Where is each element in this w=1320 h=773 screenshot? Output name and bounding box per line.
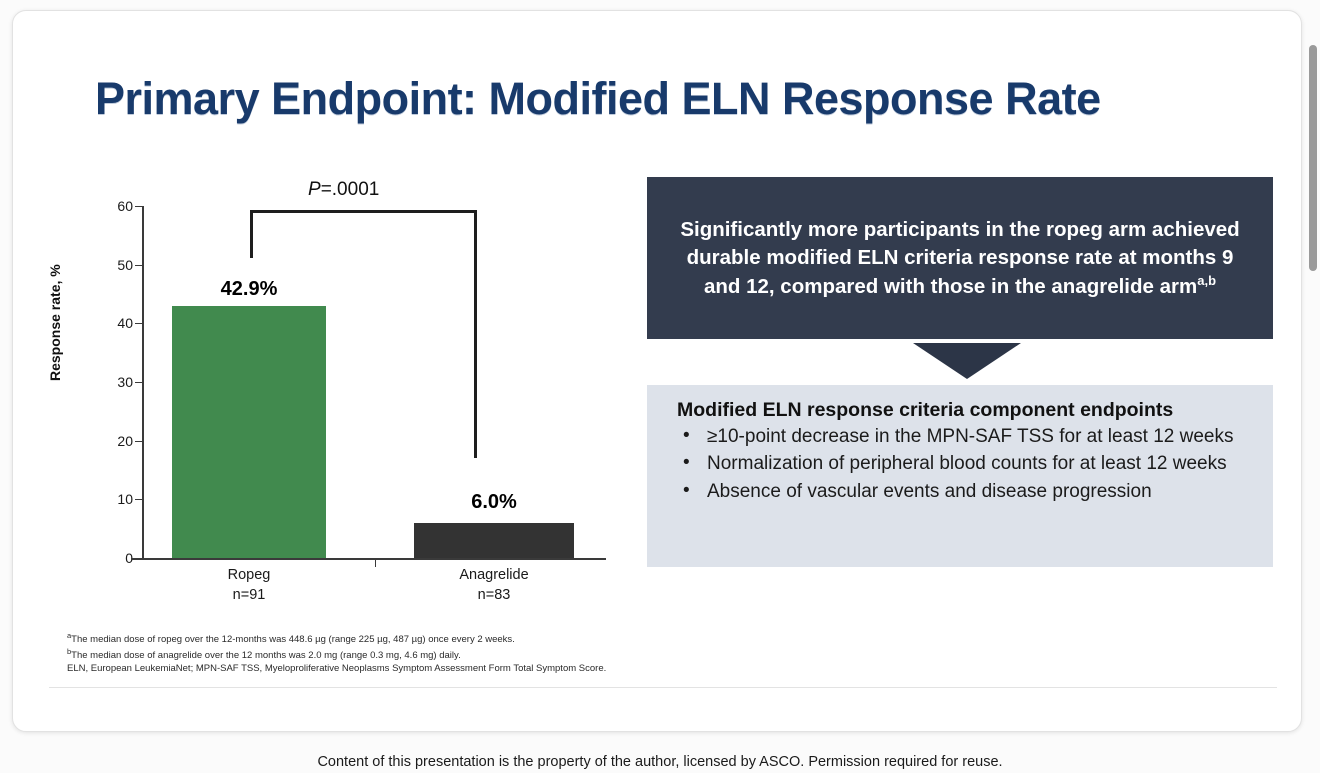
y-tick-label: 10 bbox=[87, 491, 133, 507]
p-value-text: =.0001 bbox=[321, 179, 380, 200]
list-item: Absence of vascular events and disease p… bbox=[677, 480, 1253, 504]
bar-value-label-ropeg: 42.9% bbox=[172, 278, 326, 301]
p-value-bracket-top bbox=[250, 210, 477, 213]
category-n: n=83 bbox=[414, 586, 574, 606]
category-n: n=91 bbox=[172, 586, 326, 606]
footer-divider bbox=[49, 687, 1277, 688]
criteria-callout: Modified ELN response criteria component… bbox=[647, 385, 1273, 567]
list-item: ≥10-point decrease in the MPN-SAF TSS fo… bbox=[677, 425, 1253, 449]
key-message-body: Significantly more participants in the r… bbox=[680, 218, 1239, 298]
y-tick-mark bbox=[135, 441, 142, 442]
y-tick-label: 30 bbox=[87, 374, 133, 390]
x-axis-line bbox=[131, 558, 606, 560]
footnote-b: bThe median dose of anagrelide over the … bbox=[67, 647, 1217, 663]
footnotes: aThe median dose of ropeg over the 12-mo… bbox=[67, 631, 1217, 676]
y-tick-label: 60 bbox=[87, 198, 133, 214]
x-category-label-ropeg: Ropeg n=91 bbox=[172, 566, 326, 605]
page-caption: Content of this presentation is the prop… bbox=[0, 754, 1320, 770]
key-message-superscript: a,b bbox=[1197, 273, 1216, 288]
page-title: Primary Endpoint: Modified ELN Response … bbox=[95, 73, 1235, 125]
x-tick-mark bbox=[375, 560, 376, 567]
footnote-a-text: The median dose of ropeg over the 12-mon… bbox=[71, 634, 515, 645]
key-message-text: Significantly more participants in the r… bbox=[673, 216, 1247, 300]
y-tick-mark bbox=[135, 499, 142, 500]
footnote-abbreviations: ELN, European LeukemiaNet; MPN-SAF TSS, … bbox=[67, 662, 1217, 675]
p-value-prefix: P bbox=[308, 179, 321, 200]
p-value-bracket-left bbox=[250, 210, 253, 258]
footnote-b-text: The median dose of anagrelide over the 1… bbox=[71, 650, 461, 661]
y-tick-mark bbox=[135, 323, 142, 324]
footnote-a: aThe median dose of ropeg over the 12-mo… bbox=[67, 631, 1217, 647]
y-tick-mark bbox=[135, 382, 142, 383]
y-axis-ticks: 60 50 40 30 20 10 0 bbox=[81, 171, 133, 561]
y-tick-label: 50 bbox=[87, 257, 133, 273]
slide-card: Primary Endpoint: Modified ELN Response … bbox=[12, 10, 1302, 732]
category-name: Anagrelide bbox=[414, 566, 574, 586]
vertical-scrollbar[interactable] bbox=[1306, 0, 1320, 773]
x-category-label-anagrelide: Anagrelide n=83 bbox=[414, 566, 574, 605]
bar-value-label-anagrelide: 6.0% bbox=[414, 491, 574, 514]
screenshot-root: Primary Endpoint: Modified ELN Response … bbox=[0, 0, 1320, 773]
y-tick-label: 0 bbox=[87, 550, 133, 566]
bar-anagrelide bbox=[414, 523, 574, 558]
list-item: Normalization of peripheral blood counts… bbox=[677, 452, 1253, 476]
bar-ropeg bbox=[172, 306, 326, 558]
slide-footer: 2025 ASCO® ANNUAL MEETING #ASCO25 PRESEN… bbox=[13, 693, 1302, 732]
p-value-annotation: P=.0001 bbox=[308, 179, 379, 201]
category-name: Ropeg bbox=[172, 566, 326, 586]
criteria-heading: Modified ELN response criteria component… bbox=[677, 399, 1253, 422]
y-tick-mark bbox=[135, 265, 142, 266]
bar-chart: Response rate, % 60 50 40 30 20 10 0 bbox=[63, 171, 643, 611]
p-value-bracket-right bbox=[474, 210, 477, 458]
key-message-callout: Significantly more participants in the r… bbox=[647, 177, 1273, 339]
criteria-list: ≥10-point decrease in the MPN-SAF TSS fo… bbox=[677, 425, 1253, 504]
y-tick-mark bbox=[135, 206, 142, 207]
y-axis-label: Response rate, % bbox=[47, 264, 63, 381]
y-tick-label: 20 bbox=[87, 433, 133, 449]
down-arrow-icon bbox=[913, 343, 1021, 379]
y-tick-label: 40 bbox=[87, 315, 133, 331]
scrollbar-thumb[interactable] bbox=[1309, 45, 1317, 271]
